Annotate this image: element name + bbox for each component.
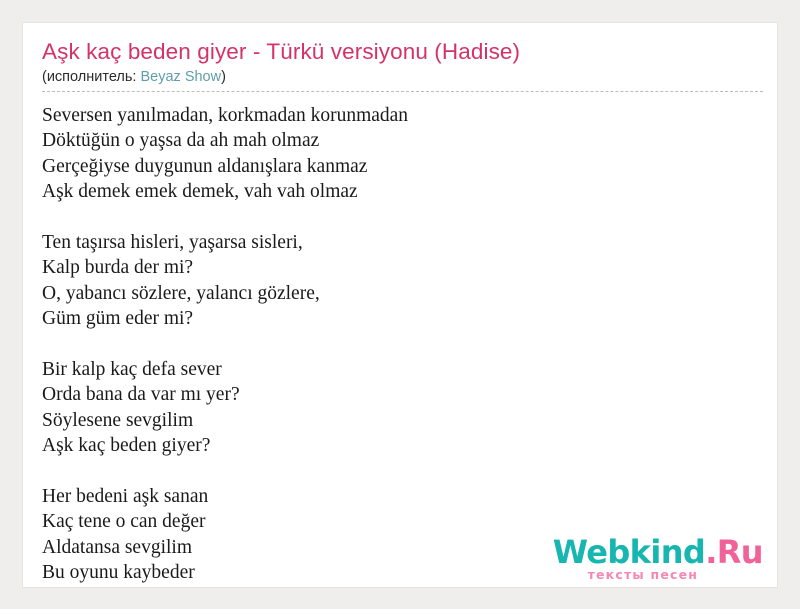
performer-row: (исполнитель: Beyaz Show): [42, 67, 763, 92]
lyrics-line: Aşk demek emek demek, vah vah olmaz: [42, 179, 763, 204]
logo-tld-ru: Ru: [717, 533, 763, 571]
lyrics-line: Kalp burda der mi?: [42, 255, 763, 280]
lyrics-line: O, yabancı sözlere, yalancı gözlere,: [42, 281, 763, 306]
performer-link[interactable]: Beyaz Show: [140, 69, 221, 85]
lyrics-line: Ten taşırsa hisleri, yaşarsa sisleri,: [42, 230, 763, 255]
lyrics-line: Güm güm eder mi?: [42, 306, 763, 331]
lyrics-line: Seversen yanılmadan, korkmadan korunmada…: [42, 103, 763, 128]
lyrics-line: Gerçeğiyse duygunun aldanışlara kanmaz: [42, 154, 763, 179]
logo-wordmark: Webkind.Ru: [553, 536, 763, 568]
lyrics-line: Aşk kaç beden giyer?: [42, 433, 763, 458]
performer-prefix-label: (исполнитель:: [42, 69, 140, 85]
performer-suffix-label: ): [221, 69, 226, 85]
lyrics-line: Her bedeni aşk sanan: [42, 484, 763, 509]
lyrics-body: Seversen yanılmadan, korkmadan korunmada…: [42, 92, 763, 586]
logo-word-webkind: Webkind: [553, 533, 706, 571]
lyrics-line: Orda bana da var mı yer?: [42, 382, 763, 407]
lyrics-blank-line: [42, 332, 763, 357]
logo-dot: .: [705, 533, 717, 571]
lyrics-line: Bir kalp kaç defa sever: [42, 357, 763, 382]
page-title: Aşk kaç beden giyer - Türkü versiyonu (H…: [42, 38, 763, 66]
lyrics-line: Döktüğün o yaşsa da ah mah olmaz: [42, 128, 763, 153]
lyrics-line: Kaç tene o can değer: [42, 509, 763, 534]
lyrics-line: Söylesene sevgilim: [42, 408, 763, 433]
site-logo[interactable]: Webkind.Ru тексты песен: [553, 536, 763, 582]
lyrics-blank-line: [42, 459, 763, 484]
content-area: Aşk kaç beden giyer - Türkü versiyonu (H…: [42, 38, 763, 586]
lyrics-card: Aşk kaç beden giyer - Türkü versiyonu (H…: [22, 22, 778, 588]
lyrics-blank-line: [42, 205, 763, 230]
